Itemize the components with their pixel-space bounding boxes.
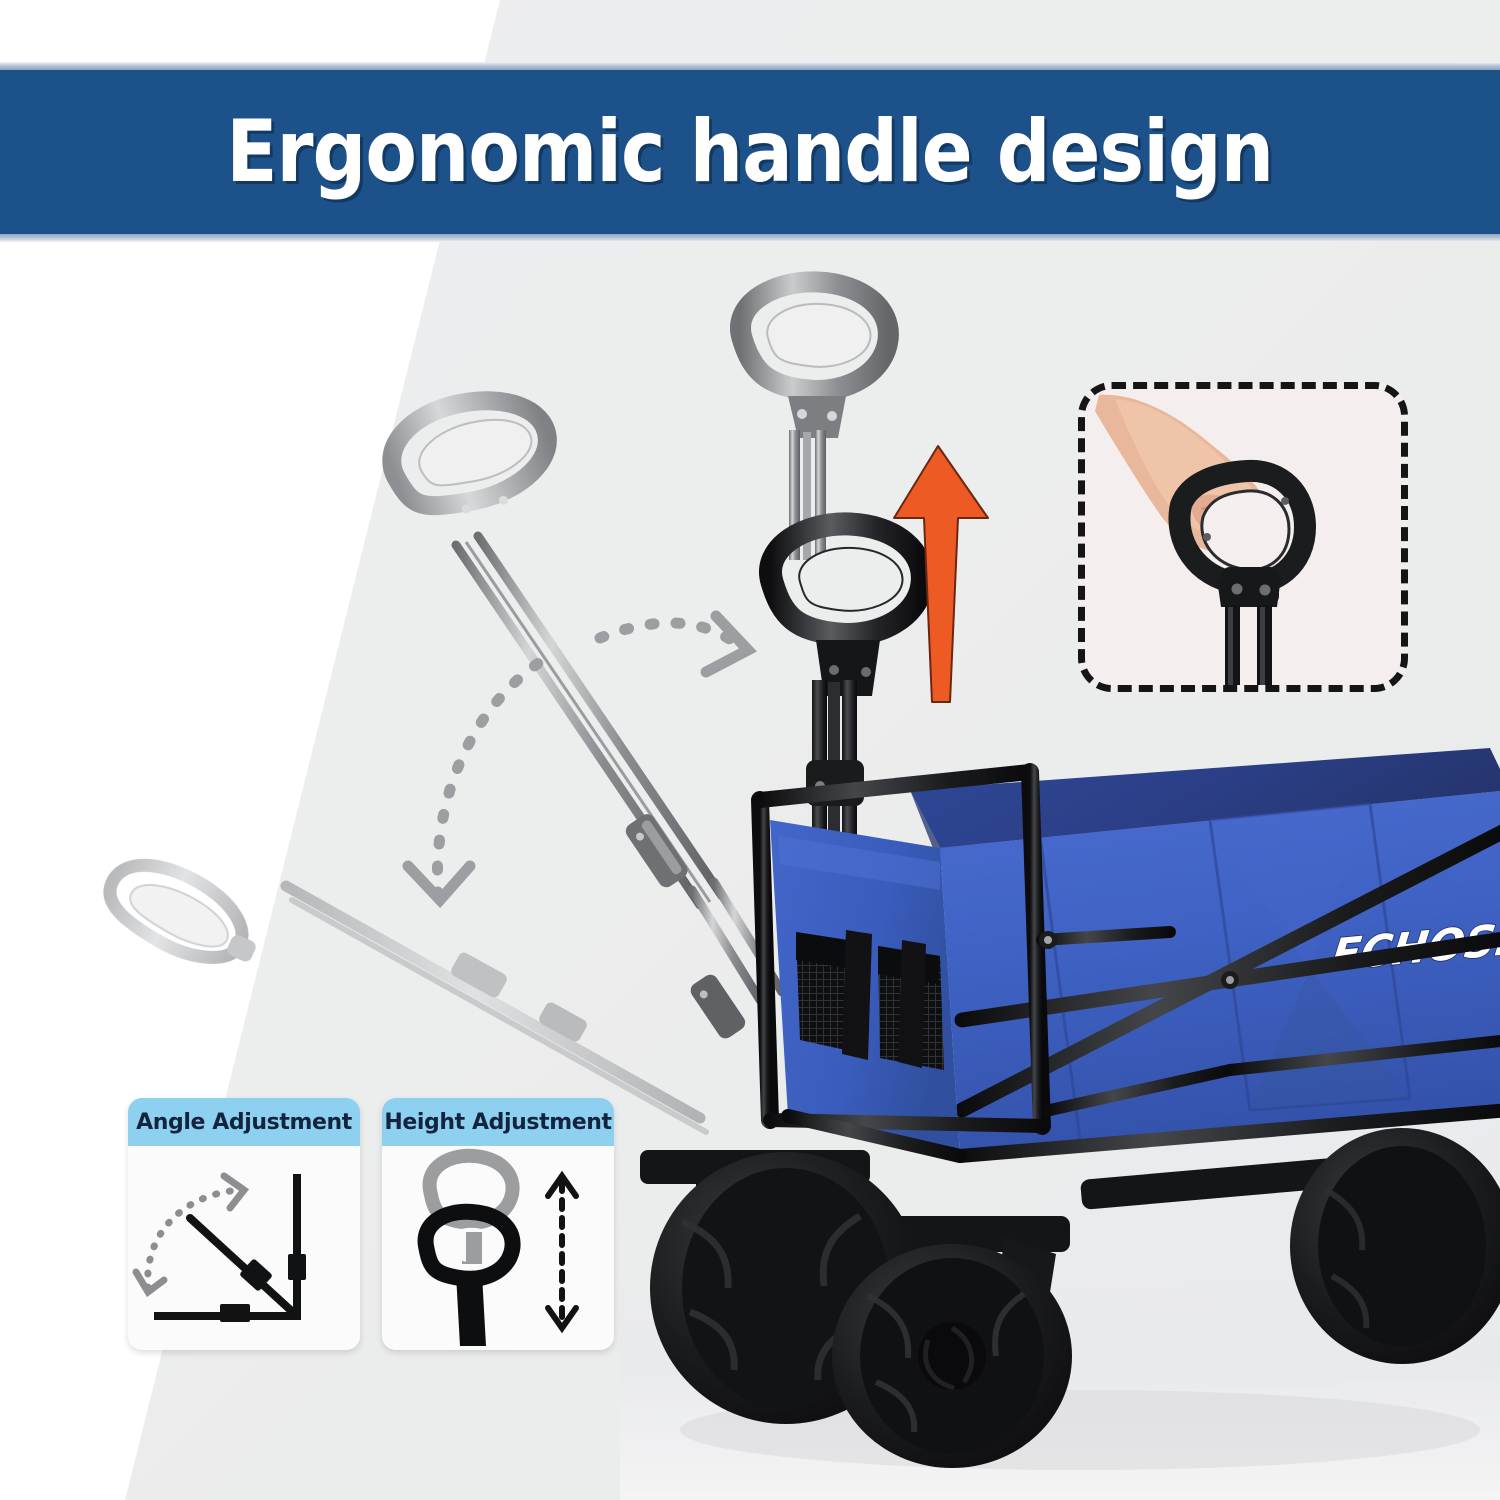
card-angle-adjustment[interactable]: Angle Adjustment bbox=[128, 1098, 360, 1350]
wheel-front-left bbox=[832, 1244, 1072, 1468]
angle-pivot-icon bbox=[128, 1146, 360, 1350]
product-feature-image: Ergonomic handle design bbox=[0, 0, 1500, 1500]
card-angle-title: Angle Adjustment bbox=[136, 1110, 352, 1135]
card-angle-body bbox=[128, 1146, 360, 1350]
card-height-body bbox=[382, 1146, 614, 1350]
card-height-adjustment[interactable]: Height Adjustment bbox=[382, 1098, 614, 1350]
feature-cards: Angle Adjustment bbox=[128, 1098, 614, 1350]
height-telescope-icon bbox=[382, 1146, 614, 1350]
card-height-title: Height Adjustment bbox=[384, 1110, 611, 1135]
card-height-header: Height Adjustment bbox=[382, 1098, 614, 1146]
folding-wagon-cart: ECHOSM bbox=[610, 640, 1500, 1470]
card-angle-header: Angle Adjustment bbox=[128, 1098, 360, 1146]
